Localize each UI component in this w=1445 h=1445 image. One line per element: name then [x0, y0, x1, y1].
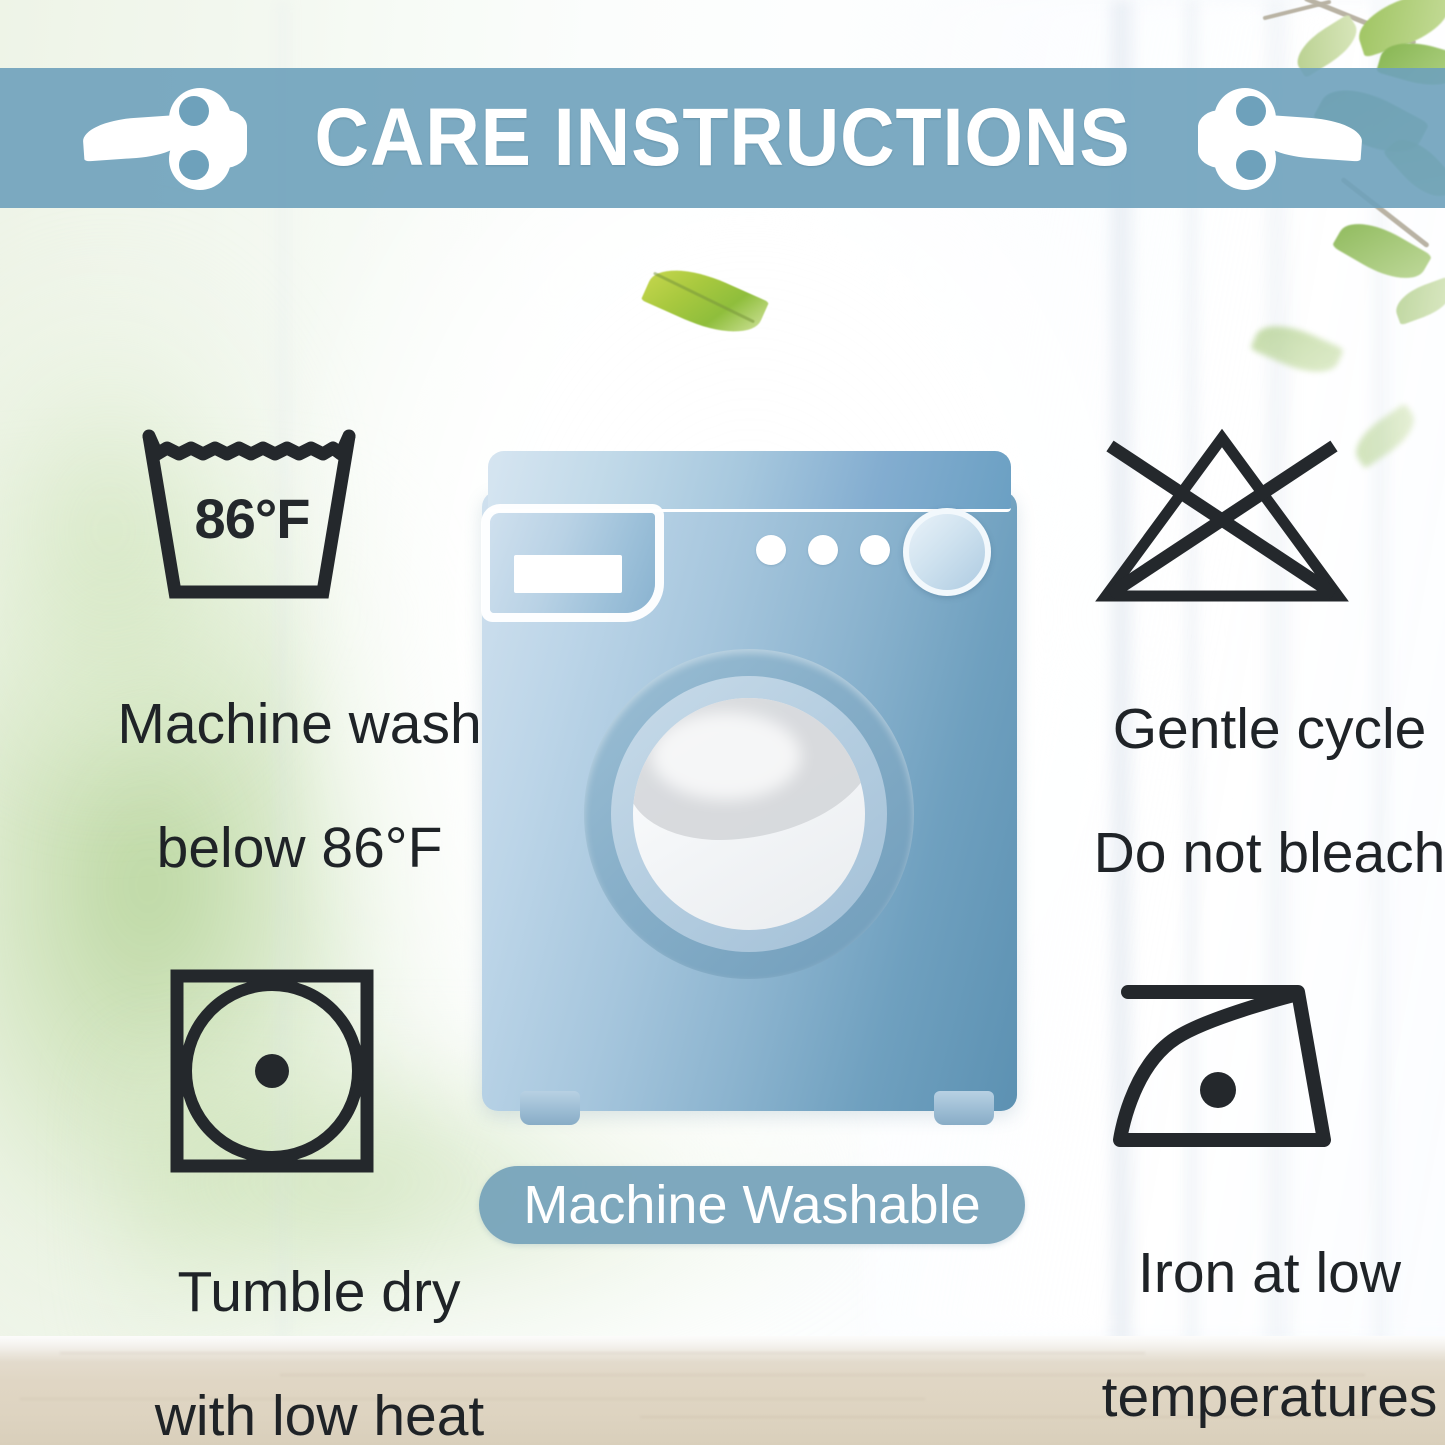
washing-machine-illustration: [482, 451, 1017, 1111]
care-item-do-not-bleach: Gentle cycle Do not bleach: [1022, 424, 1422, 946]
machine-wash-label-line1: Machine wash: [117, 692, 481, 756]
detergent-drawer: [490, 513, 655, 613]
care-item-iron-low: Iron at low temperatures: [1022, 972, 1422, 1445]
wash-temperature-value: 86°F: [127, 486, 377, 551]
washer-lid: [488, 451, 1011, 512]
washer-door-outer-ring: [584, 649, 914, 979]
glass-highlight: [651, 712, 801, 800]
square-circle-dot-icon: [167, 966, 377, 1181]
iron-low-label-line1: Iron at low: [1138, 1241, 1401, 1305]
page-title: CARE INSTRUCTIONS: [314, 97, 1130, 179]
machine-wash-label-line2: below 86°F: [157, 816, 443, 880]
washer-foot-right: [934, 1091, 994, 1125]
machine-washable-badge: Machine Washable: [479, 1166, 1025, 1244]
do-not-bleach-label-line1: Gentle cycle: [1113, 697, 1427, 761]
tumble-dry-label-line2: with low heat: [155, 1384, 485, 1445]
iron-low-label-line2: temperatures: [1102, 1365, 1438, 1429]
care-item-tumble-dry: Tumble dry with low heat: [72, 966, 472, 1445]
care-instructions-infographic: CARE INSTRUCTIONS 86°F Machine wash: [0, 0, 1445, 1445]
washer-door-glass: [633, 698, 865, 930]
wash-tub-icon: 86°F: [127, 424, 377, 609]
header-banner: CARE INSTRUCTIONS: [0, 68, 1445, 208]
drawer-slot: [514, 555, 622, 593]
crossed-triangle-icon: [1092, 424, 1352, 614]
badge-label: Machine Washable: [523, 1178, 980, 1232]
fleur-de-lis-icon-left: [83, 86, 233, 190]
indicator-lights: [756, 535, 890, 565]
iron-one-dot-icon: [1102, 972, 1342, 1162]
dial-knob: [903, 508, 991, 596]
washer-foot-left: [520, 1091, 580, 1125]
washer-door-inner-ring: [611, 676, 887, 952]
do-not-bleach-label-line2: Do not bleach: [1094, 821, 1445, 885]
care-item-machine-wash: 86°F Machine wash below 86°F: [52, 424, 452, 941]
tumble-dry-label-line1: Tumble dry: [178, 1260, 461, 1324]
indicator-light: [808, 535, 838, 565]
fleur-de-lis-icon-right: [1212, 86, 1362, 190]
indicator-light: [756, 535, 786, 565]
indicator-light: [860, 535, 890, 565]
